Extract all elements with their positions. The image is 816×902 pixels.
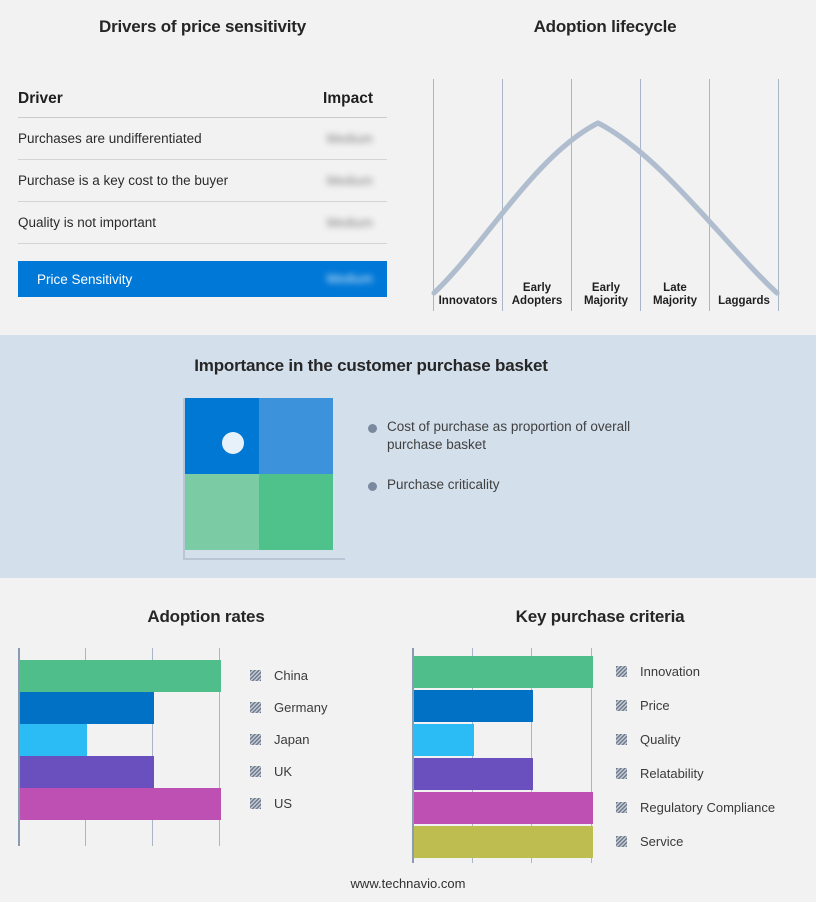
hatch-swatch-icon bbox=[250, 670, 261, 681]
legend-label: Cost of purchase as proportion of overal… bbox=[387, 418, 658, 454]
impact-value-redacted: Medium bbox=[327, 174, 387, 188]
drivers-panel-title: Drivers of price sensitivity bbox=[18, 17, 387, 37]
column-header-impact: Impact bbox=[323, 90, 387, 108]
bar-uk bbox=[20, 756, 154, 788]
legend-item-china: China bbox=[250, 668, 308, 683]
basket-panel-title: Importance in the customer purchase bask… bbox=[0, 356, 742, 376]
drivers-table: Driver Impact Purchases are undifferenti… bbox=[18, 90, 387, 297]
lifecycle-gridlines bbox=[434, 79, 779, 311]
legend-item-germany: Germany bbox=[250, 700, 327, 715]
key-criteria-panel-title: Key purchase criteria bbox=[412, 607, 788, 627]
bar-price bbox=[414, 690, 533, 722]
key-purchase-criteria-chart: Innovation Price Quality Relatability Re… bbox=[412, 648, 802, 863]
hatch-swatch-icon bbox=[250, 798, 261, 809]
bullet-icon bbox=[368, 482, 377, 491]
table-row: Purchase is a key cost to the buyer Medi… bbox=[18, 160, 387, 202]
hatch-swatch-icon bbox=[616, 768, 627, 779]
legend-item: Purchase criticality bbox=[368, 476, 658, 494]
bar-relatability bbox=[414, 758, 533, 790]
hatch-swatch-icon bbox=[616, 666, 627, 677]
bar-quality bbox=[414, 724, 474, 756]
legend-label: China bbox=[274, 668, 308, 683]
lifecycle-panel-title: Adoption lifecycle bbox=[425, 17, 785, 37]
legend-label: Japan bbox=[274, 732, 309, 747]
legend-label: Quality bbox=[640, 732, 680, 747]
adoption-legend: China Germany Japan UK US bbox=[250, 648, 380, 846]
legend-item-service: Service bbox=[616, 834, 683, 849]
legend-label: Regulatory Compliance bbox=[640, 800, 775, 815]
adoption-plot-area bbox=[18, 648, 222, 846]
impact-value-redacted: Medium bbox=[327, 216, 387, 230]
legend-item-us: US bbox=[250, 796, 292, 811]
criteria-legend: Innovation Price Quality Relatability Re… bbox=[616, 648, 802, 863]
bar-china bbox=[20, 660, 221, 692]
table-row: Quality is not important Medium bbox=[18, 202, 387, 244]
legend-label: UK bbox=[274, 764, 292, 779]
legend-item-relatability: Relatability bbox=[616, 766, 704, 781]
quadrant-cell-top-right bbox=[259, 398, 333, 474]
legend-item-japan: Japan bbox=[250, 732, 309, 747]
adoption-rates-panel-title: Adoption rates bbox=[18, 607, 394, 627]
legend-item-innovation: Innovation bbox=[616, 664, 700, 679]
impact-value-redacted: Medium bbox=[327, 132, 387, 146]
bullet-icon bbox=[368, 424, 377, 433]
legend-item-uk: UK bbox=[250, 764, 292, 779]
legend-label: Purchase criticality bbox=[387, 476, 500, 494]
criteria-plot-area bbox=[412, 648, 594, 863]
hatch-swatch-icon bbox=[250, 734, 261, 745]
quadrant-position-marker bbox=[222, 432, 244, 454]
legend-item-quality: Quality bbox=[616, 732, 680, 747]
summary-label: Price Sensitivity bbox=[37, 272, 132, 287]
adoption-rates-chart: China Germany Japan UK US bbox=[18, 648, 378, 846]
hatch-swatch-icon bbox=[616, 836, 627, 847]
quadrant-cell-top-left bbox=[185, 398, 259, 474]
bar-germany bbox=[20, 692, 154, 724]
legend-label: Price bbox=[640, 698, 670, 713]
driver-label: Purchases are undifferentiated bbox=[18, 131, 202, 146]
legend-label: Germany bbox=[274, 700, 327, 715]
purchase-basket-quadrant-chart bbox=[178, 398, 343, 566]
bar-regulatory-compliance bbox=[414, 792, 593, 824]
bar-innovation bbox=[414, 656, 593, 688]
driver-label: Quality is not important bbox=[18, 215, 156, 230]
hatch-swatch-icon bbox=[250, 766, 261, 777]
quadrant-grid bbox=[185, 398, 333, 550]
basket-legend: Cost of purchase as proportion of overal… bbox=[368, 418, 658, 516]
legend-label: Service bbox=[640, 834, 683, 849]
legend-item-regulatory-compliance: Regulatory Compliance bbox=[616, 800, 775, 815]
legend-label: Relatability bbox=[640, 766, 704, 781]
hatch-swatch-icon bbox=[250, 702, 261, 713]
legend-label: US bbox=[274, 796, 292, 811]
lifecycle-curve bbox=[434, 123, 777, 293]
table-header-row: Driver Impact bbox=[18, 90, 387, 118]
lifecycle-svg bbox=[425, 75, 785, 315]
hatch-swatch-icon bbox=[616, 802, 627, 813]
column-header-driver: Driver bbox=[18, 90, 63, 108]
bar-service bbox=[414, 826, 593, 858]
legend-item: Cost of purchase as proportion of overal… bbox=[368, 418, 658, 454]
hatch-swatch-icon bbox=[616, 700, 627, 711]
bar-japan bbox=[20, 724, 87, 756]
infographic-page: Drivers of price sensitivity Driver Impa… bbox=[0, 0, 816, 902]
legend-item-price: Price bbox=[616, 698, 670, 713]
footer-url: www.technavio.com bbox=[0, 876, 816, 891]
legend-label: Innovation bbox=[640, 664, 700, 679]
driver-label: Purchase is a key cost to the buyer bbox=[18, 173, 228, 188]
summary-impact-redacted: Medium bbox=[327, 272, 387, 286]
price-sensitivity-summary-row: Price Sensitivity Medium bbox=[18, 261, 387, 297]
quadrant-cell-bottom-left bbox=[185, 474, 259, 550]
hatch-swatch-icon bbox=[616, 734, 627, 745]
quadrant-x-axis bbox=[183, 558, 345, 560]
quadrant-cell-bottom-right bbox=[259, 474, 333, 550]
bar-us bbox=[20, 788, 221, 820]
adoption-lifecycle-chart: Innovators Early Adopters Early Majority… bbox=[425, 75, 785, 315]
table-row: Purchases are undifferentiated Medium bbox=[18, 118, 387, 160]
